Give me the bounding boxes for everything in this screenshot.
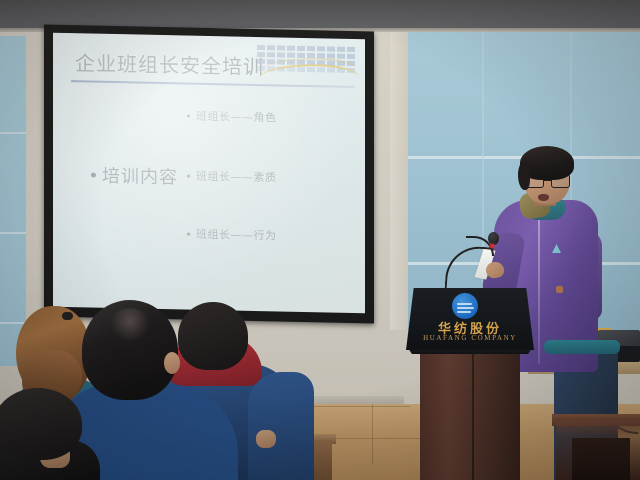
audience-red-hood-head [178, 302, 248, 370]
audience-hand [256, 430, 276, 448]
bullet-dot-icon [187, 114, 190, 117]
slide-main-bullet: 培训内容 [91, 162, 178, 190]
huafang-logo-icon [452, 293, 478, 319]
title-underline [71, 80, 355, 88]
bullet-dot-icon [187, 174, 190, 177]
microphone-led-indicator [490, 244, 494, 248]
audience-woman-hair-tie [62, 312, 73, 320]
bullet-dot-icon [187, 232, 190, 235]
presenter-pocket-tab [556, 286, 563, 293]
presenter-jacket-zipper [538, 214, 540, 364]
lectern-base-seam [472, 352, 474, 480]
audience-arm [248, 372, 314, 480]
wall-pillar [390, 30, 408, 330]
audience-foreground-head [0, 388, 82, 460]
slide-sub-bullet-2: 班组长——素质 [187, 168, 277, 186]
slide-header-decoration-icon [257, 43, 361, 79]
presenter-hair-side [518, 162, 530, 190]
audience-center-ear [164, 352, 180, 374]
bullet-dot-icon [91, 172, 96, 177]
microphone-head-icon [488, 232, 499, 245]
slide-title: 企业班组长安全培训 [75, 47, 264, 80]
presenter-mouth [538, 194, 549, 201]
projection-screen[interactable]: 企业班组长安全培训 [44, 25, 374, 324]
slide-sub-bullet-3: 班组长——行为 [187, 226, 277, 244]
foreground-table-shelf [572, 438, 630, 480]
audience-center-scalp [110, 308, 150, 342]
lectern-base [420, 352, 520, 480]
slide-sub-bullet-3-text: 班组长——行为 [196, 226, 277, 244]
slide-sub-bullet-1-text: 班组长——角色 [196, 108, 277, 126]
lectern-company-name-en: HUAFANG COMPANY [406, 334, 534, 342]
slide-sub-bullet-1: 班组长——角色 [187, 108, 277, 126]
slide-main-bullet-text: 培训内容 [102, 162, 178, 190]
slide-sub-bullet-2-text: 班组长——素质 [196, 168, 277, 186]
slide-surface: 企业班组长安全培训 [53, 33, 365, 314]
lecture-hall-photo: 企业班组长安全培训 [0, 0, 640, 480]
presenter-jacket-hem [544, 340, 620, 354]
wall-panel-left [0, 36, 26, 366]
